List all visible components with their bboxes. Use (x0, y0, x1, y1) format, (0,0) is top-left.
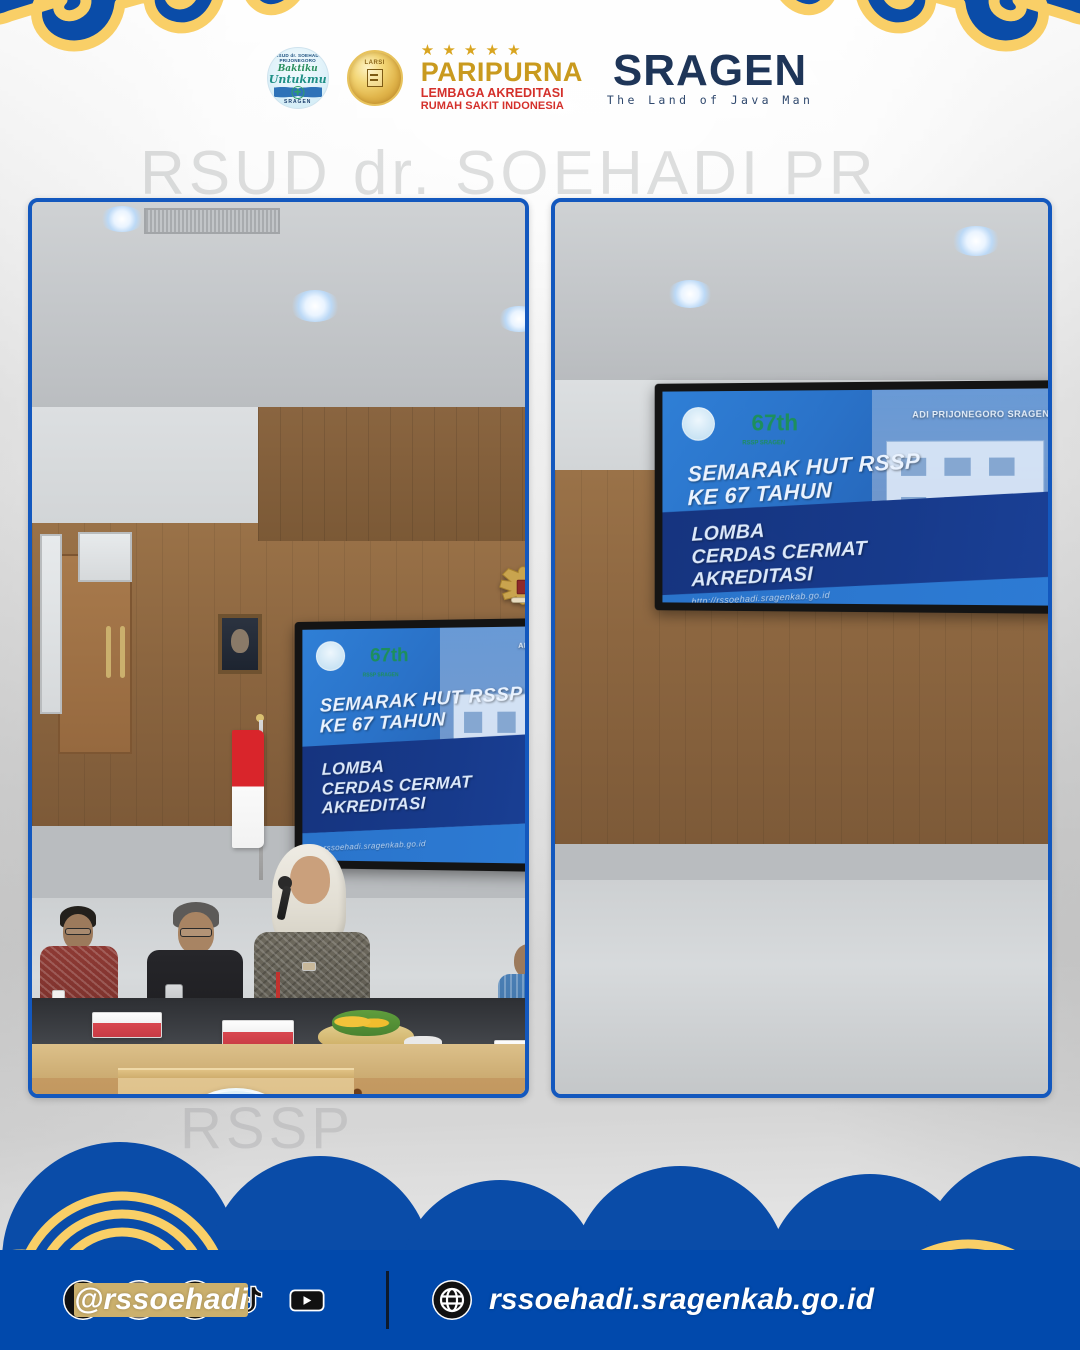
paripurna-subtitle1: LEMBAGA AKREDITASI (421, 86, 564, 101)
website-url[interactable]: rssoehadi.sragenkab.go.id (489, 1283, 874, 1317)
person-middle-glasses (180, 928, 212, 937)
person-left-glasses (65, 928, 91, 935)
hospital-seal-cross-icon: ✚ (291, 86, 304, 99)
hospital-seal-ring-text: RSUD dr. SOEHADI PRIJONEGORO (268, 53, 328, 63)
indonesian-flag-left (232, 730, 264, 848)
door-upper-glass (78, 532, 132, 582)
ceiling-light-right-1 (667, 280, 713, 308)
garuda-emblem-icon (492, 560, 525, 616)
sragen-tagline: The Land of Java Man (607, 93, 813, 107)
screen-hospital-logo (316, 641, 345, 671)
screen-hospital-logo-right (682, 407, 715, 441)
screen-anniversary-number: 67th (370, 645, 409, 667)
sragen-wordmark: SRAGEN (613, 49, 807, 92)
door-handle[interactable] (106, 626, 111, 678)
social-handle[interactable]: @rssoehadi (74, 1283, 248, 1317)
photo-left[interactable]: ADI PRI 67th RSSP SRAGEN SEMARAK HUT RSS… (28, 198, 529, 1098)
snack-box-1 (92, 1012, 162, 1038)
footer-social-group: @rssoehadi (62, 1279, 328, 1321)
header-logo-bar: RSUD dr. SOEHADI PRIJONEGORO Baktiku Unt… (0, 38, 1080, 118)
paripurna-subtitle2: RUMAH SAKIT INDONESIA (421, 100, 564, 113)
meeting-room-scene-left: ADI PRI 67th RSSP SRAGEN SEMARAK HUT RSS… (32, 202, 525, 1094)
screen-anniversary-sub-right: RSSP SRAGEN (742, 440, 785, 446)
sragen-regency-logo: SRAGEN The Land of Java Man (607, 49, 813, 107)
hospital-seal-bottom-text: SRAGEN (268, 99, 328, 105)
speaker-name-tag (302, 962, 316, 971)
footer-bar: @rssoehadi rssoehadi.sragenkab.go.id (0, 1250, 1080, 1350)
larsi-medal-mark-icon (367, 69, 383, 87)
meeting-room-scene-right: ADI PRIJONEGORO SRAGEN 67th RSSP SRAGEN … (555, 202, 1048, 1094)
hospital-seal-icon: RSUD dr. SOEHADI PRIJONEGORO Baktiku Unt… (267, 47, 329, 109)
door-handle-2[interactable] (120, 626, 125, 678)
screen-anniversary-number-right: 67th (751, 409, 798, 436)
ceiling-light-right-2 (951, 226, 1001, 256)
screen-anniversary-sub: RSSP SRAGEN (363, 672, 399, 678)
ceiling-light-2 (290, 290, 340, 322)
tumpeng-food (332, 1010, 400, 1036)
paripurna-title: PARIPURNA (421, 59, 583, 86)
screen-anniversary-logo: 67th (367, 640, 412, 672)
photo-collage: ADI PRI 67th RSSP SRAGEN SEMARAK HUT RSS… (28, 198, 1052, 1098)
screen-anniversary-logo-right: 67th (748, 404, 801, 440)
screen-building-caption-left: ADI PRI (518, 642, 525, 649)
poster-root: RSUD dr. SOEHADI PR RSSP RSUD dr. SOEHAD… (0, 0, 1080, 1350)
globe-icon[interactable] (431, 1279, 473, 1321)
paripurna-stars-icon: ★ ★ ★ ★ ★ (421, 43, 523, 58)
ceiling-light-1 (100, 206, 144, 232)
framed-portrait (218, 614, 262, 674)
portrait-face (231, 629, 248, 653)
ceiling-vent-icon (144, 208, 280, 234)
presentation-screen-right: ADI PRIJONEGORO SRAGEN 67th RSSP SRAGEN … (655, 380, 1048, 614)
larsi-medal-label: LARSI (349, 60, 401, 66)
footer-divider (386, 1271, 389, 1329)
photo-right[interactable]: ADI PRIJONEGORO SRAGEN 67th RSSP SRAGEN … (551, 198, 1052, 1098)
presentation-screen-left: ADI PRI 67th RSSP SRAGEN SEMARAK HUT RSS… (295, 618, 525, 872)
footer-website-group: rssoehadi.sragenkab.go.id (431, 1279, 874, 1321)
youtube-icon[interactable] (286, 1279, 328, 1321)
wall-panel-upper (258, 407, 525, 541)
larsi-medal-icon: LARSI (347, 50, 403, 106)
screen-subtitle-left: LOMBA CERDAS CERMAT AKREDITASI (322, 748, 525, 819)
paripurna-accreditation-block: ★ ★ ★ ★ ★ PARIPURNA LEMBAGA AKREDITASI R… (421, 43, 583, 114)
screen-building-caption-right: ADI PRIJONEGORO SRAGEN (912, 409, 1048, 420)
speaker-head (290, 856, 330, 904)
door-sidelight-glass (40, 534, 62, 714)
